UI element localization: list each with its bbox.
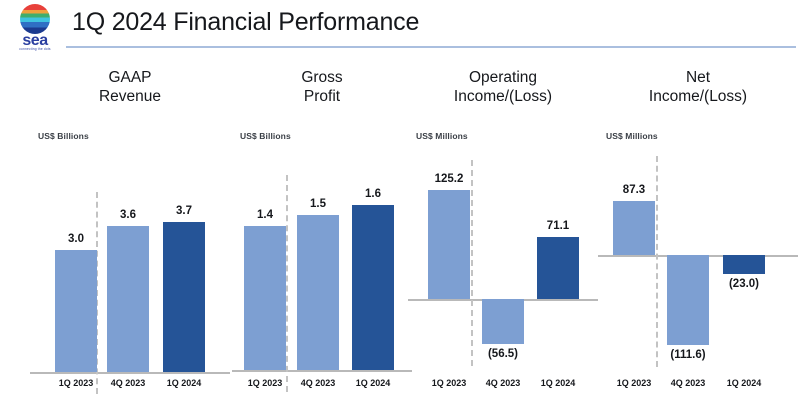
header-divider-rule (66, 46, 796, 48)
chart-value-label: 125.2 (414, 173, 484, 185)
chart-category-label: 4Q 2023 (656, 378, 720, 388)
chart-category-label: 1Q 2024 (526, 378, 590, 388)
chart-bar (537, 237, 579, 299)
chart-category-label: 1Q 2024 (152, 378, 216, 388)
chart-value-label: 71.1 (523, 220, 593, 232)
chart-baseline (30, 372, 230, 374)
chart-value-label: 3.7 (149, 205, 219, 217)
chart-title: GrossProfit (232, 68, 412, 106)
chart-bar (55, 250, 97, 372)
chart-bar (482, 299, 524, 344)
chart-unit-label: US$ Billions (38, 131, 89, 141)
chart-title-line-1: GAAP (30, 68, 230, 87)
chart-title: GAAPRevenue (30, 68, 230, 106)
chart-title-line-2: Revenue (30, 87, 230, 106)
page-title: 1Q 2024 Financial Performance (72, 8, 419, 37)
slide-root: sea connecting the dots 1Q 2024 Financia… (0, 0, 800, 410)
chart-title-line-2: Income/(Loss) (408, 87, 598, 106)
chart-bar (428, 190, 470, 299)
chart-title: NetIncome/(Loss) (598, 68, 798, 106)
chart-value-label: (23.0) (709, 278, 779, 290)
chart-unit-label: US$ Millions (606, 131, 658, 141)
chart-bar (667, 255, 709, 345)
chart-baseline (232, 370, 412, 372)
chart-bar (297, 215, 339, 370)
chart-bar (352, 205, 394, 370)
chart-bar (723, 255, 765, 274)
chart-title-line-1: Gross (232, 68, 412, 87)
chart-value-label: 87.3 (599, 184, 669, 196)
sea-logo: sea connecting the dots (12, 4, 58, 52)
chart-period-divider (471, 160, 473, 366)
chart-value-label: (111.6) (653, 349, 723, 361)
chart-title-line-2: Income/(Loss) (598, 87, 798, 106)
sea-logo-orb-icon (20, 4, 50, 34)
chart-bar (613, 201, 655, 255)
chart-unit-label: US$ Millions (416, 131, 468, 141)
chart-title: OperatingIncome/(Loss) (408, 68, 598, 106)
chart-bar (244, 226, 286, 370)
chart-bar (163, 222, 205, 372)
sea-logo-tagline: connecting the dots (12, 47, 58, 51)
chart-bar (107, 226, 149, 372)
chart-title-line-1: Operating (408, 68, 598, 87)
chart-value-label: 1.4 (230, 209, 300, 221)
chart-title-line-1: Net (598, 68, 798, 87)
chart-unit-label: US$ Billions (240, 131, 291, 141)
chart-category-label: 1Q 2024 (341, 378, 405, 388)
chart-value-label: (56.5) (468, 348, 538, 360)
chart-value-label: 1.6 (338, 188, 408, 200)
slide-header: sea connecting the dots 1Q 2024 Financia… (0, 0, 800, 56)
chart-value-label: 3.0 (41, 233, 111, 245)
sea-logo-wordmark: sea (12, 33, 58, 48)
chart-title-line-2: Profit (232, 87, 412, 106)
chart-category-label: 4Q 2023 (96, 378, 160, 388)
chart-category-label: 1Q 2024 (712, 378, 776, 388)
